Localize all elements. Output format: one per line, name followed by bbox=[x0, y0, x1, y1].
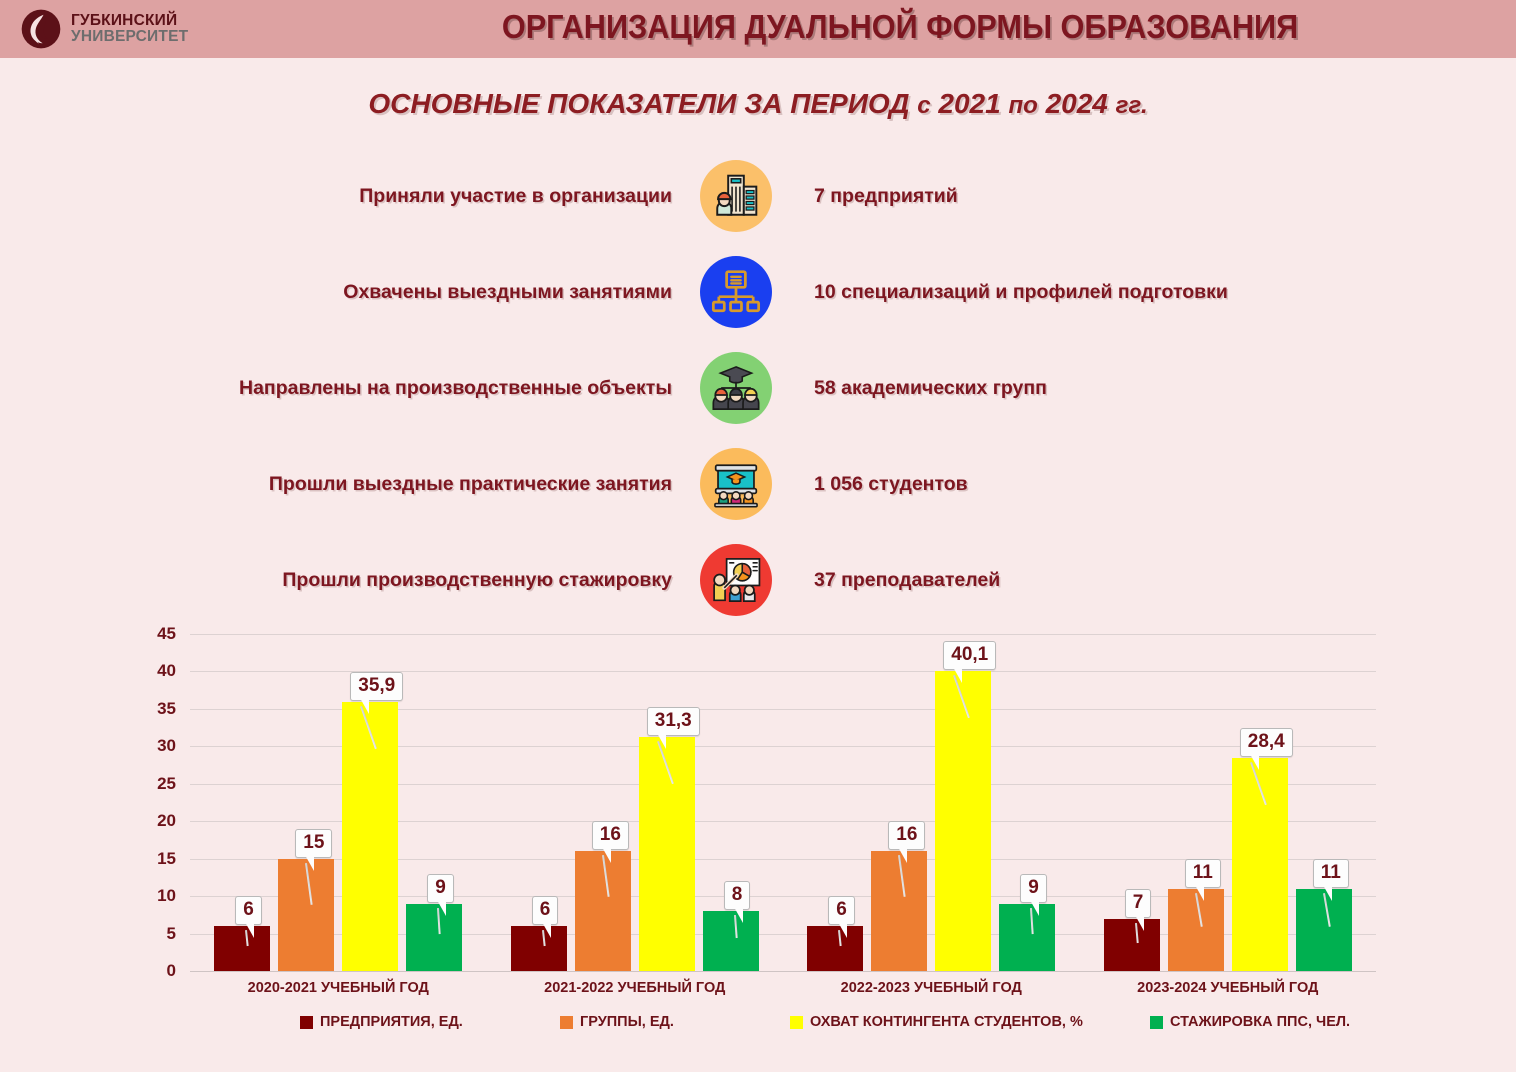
subtitle-prep-to: по bbox=[1008, 92, 1037, 119]
legend-item[interactable]: ГРУППЫ, ЕД. bbox=[560, 1014, 674, 1030]
subtitle: ОСНОВНЫЕ ПОКАЗАТЕЛИ ЗА ПЕРИОД с 2021 по … bbox=[0, 88, 1516, 120]
bar-chart: 051015202530354045 61535,9961631,3861640… bbox=[0, 612, 1516, 1072]
indicator-row: Охвачены выездными занятиями 10 специали… bbox=[0, 244, 1516, 340]
bar-value-callout: 40,1 bbox=[943, 641, 996, 670]
subtitle-prep-from: с bbox=[917, 92, 930, 119]
infographic-page: ГУБКИНСКИЙ УНИВЕРСИТЕТ ОРГАНИЗАЦИЯ ДУАЛЬ… bbox=[0, 0, 1516, 1072]
legend-item[interactable]: СТАЖИРОВКА ППС, ЧЕЛ. bbox=[1150, 1014, 1350, 1030]
x-axis-category-label: 2022-2023 УЧЕБНЫЙ ГОД bbox=[841, 980, 1022, 996]
legend-label: ГРУППЫ, ЕД. bbox=[580, 1014, 674, 1030]
callout-tail bbox=[245, 922, 254, 938]
indicator-value: 10 специализаций и профилей подготовки bbox=[772, 281, 1228, 304]
y-axis-labels: 051015202530354045 bbox=[130, 634, 176, 971]
y-axis-tick-label: 40 bbox=[130, 661, 176, 681]
bar-group: 61640,19 bbox=[783, 634, 1080, 971]
x-axis-category-label: 2021-2022 УЧЕБНЫЙ ГОД bbox=[544, 980, 725, 996]
y-axis-tick-label: 0 bbox=[130, 961, 176, 981]
org-chart-hierarchy-icon bbox=[700, 256, 772, 328]
indicator-value: 7 предприятий bbox=[772, 185, 958, 208]
indicator-label: Охвачены выездными занятиями bbox=[0, 281, 700, 304]
callout-tail bbox=[360, 698, 369, 714]
bar[interactable] bbox=[999, 904, 1055, 971]
bar-value-callout: 15 bbox=[295, 829, 332, 858]
bar[interactable] bbox=[575, 851, 631, 971]
callout-tail bbox=[542, 922, 551, 938]
y-axis-tick-label: 25 bbox=[130, 774, 176, 794]
bar[interactable] bbox=[1104, 919, 1160, 971]
callout-tail bbox=[1195, 885, 1204, 901]
bar-value-callout: 6 bbox=[235, 896, 262, 925]
callout-tail bbox=[1250, 754, 1259, 770]
legend-swatch-icon bbox=[560, 1016, 573, 1029]
x-axis-category-label: 2020-2021 УЧЕБНЫЙ ГОД bbox=[248, 980, 429, 996]
legend-swatch-icon bbox=[1150, 1016, 1163, 1029]
bar-group: 61631,38 bbox=[487, 634, 784, 971]
legend-swatch-icon bbox=[790, 1016, 803, 1029]
y-axis-tick-label: 5 bbox=[130, 924, 176, 944]
bar-value-callout: 16 bbox=[592, 821, 629, 850]
bar-value-callout: 35,9 bbox=[350, 672, 403, 701]
lecture-board-audience-icon bbox=[700, 448, 772, 520]
indicator-row: Прошли выездные практические занятия bbox=[0, 436, 1516, 532]
bar[interactable] bbox=[703, 911, 759, 971]
bar[interactable] bbox=[342, 702, 398, 971]
legend-item[interactable]: ПРЕДПРИЯТИЯ, ЕД. bbox=[300, 1014, 463, 1030]
bar-group: 61535,99 bbox=[190, 634, 487, 971]
y-axis-tick-label: 30 bbox=[130, 736, 176, 756]
callout-tail bbox=[734, 907, 743, 923]
indicator-label: Прошли производственную стажировку bbox=[0, 569, 700, 592]
callout-tail bbox=[657, 733, 666, 749]
subtitle-main: ОСНОВНЫЕ ПОКАЗАТЕЛИ ЗА ПЕРИОД bbox=[368, 88, 909, 119]
indicator-value: 1 056 студентов bbox=[772, 473, 968, 496]
y-axis-tick-label: 15 bbox=[130, 849, 176, 869]
bar-value-callout: 8 bbox=[724, 881, 751, 910]
subtitle-year-to: 2024 bbox=[1046, 88, 1108, 119]
indicator-label: Прошли выездные практические занятия bbox=[0, 473, 700, 496]
logo-primary-text: ГУБКИНСКИЙ bbox=[71, 13, 188, 29]
callout-tail bbox=[602, 847, 611, 863]
bar-value-callout: 7 bbox=[1125, 889, 1152, 918]
bar-value-callout: 31,3 bbox=[647, 707, 700, 736]
graduation-cap-students-icon bbox=[700, 352, 772, 424]
bar-value-callout: 11 bbox=[1185, 859, 1221, 888]
bar[interactable] bbox=[406, 904, 462, 971]
university-logo: ГУБКИНСКИЙ УНИВЕРСИТЕТ bbox=[20, 8, 188, 50]
y-axis-tick-label: 45 bbox=[130, 624, 176, 644]
y-axis-tick-label: 35 bbox=[130, 699, 176, 719]
legend-swatch-icon bbox=[300, 1016, 313, 1029]
callout-tail bbox=[953, 667, 962, 683]
page-title: ОРГАНИЗАЦИЯ ДУАЛЬНОЙ ФОРМЫ ОБРАЗОВАНИЯ bbox=[351, 8, 1448, 46]
bar-value-callout: 11 bbox=[1313, 859, 1349, 888]
callout-tail bbox=[898, 847, 907, 863]
callout-tail bbox=[305, 855, 314, 871]
callout-tail bbox=[1135, 915, 1144, 931]
bar-value-callout: 9 bbox=[1020, 874, 1047, 903]
callout-tail bbox=[1323, 885, 1332, 901]
bar[interactable] bbox=[511, 926, 567, 971]
subtitle-year-from: 2021 bbox=[938, 88, 1000, 119]
legend-label: ОХВАТ КОНТИНГЕНТА СТУДЕНТОВ, % bbox=[810, 1014, 1083, 1030]
gridline bbox=[190, 971, 1376, 972]
y-axis-tick-label: 20 bbox=[130, 811, 176, 831]
logo-secondary-text: УНИВЕРСИТЕТ bbox=[71, 29, 188, 45]
bar-value-callout: 28,4 bbox=[1240, 728, 1293, 757]
legend-label: СТАЖИРОВКА ППС, ЧЕЛ. bbox=[1170, 1014, 1350, 1030]
header-band: ГУБКИНСКИЙ УНИВЕРСИТЕТ ОРГАНИЗАЦИЯ ДУАЛЬ… bbox=[0, 0, 1516, 58]
legend-label: ПРЕДПРИЯТИЯ, ЕД. bbox=[320, 1014, 463, 1030]
subtitle-suffix: гг. bbox=[1116, 92, 1148, 119]
bar[interactable] bbox=[807, 926, 863, 971]
presenter-pie-chart-icon bbox=[700, 544, 772, 616]
indicator-label: Приняли участие в организации bbox=[0, 185, 700, 208]
indicator-value: 37 преподавателей bbox=[772, 569, 1000, 592]
legend-item[interactable]: ОХВАТ КОНТИНГЕНТА СТУДЕНТОВ, % bbox=[790, 1014, 1083, 1030]
bar[interactable] bbox=[214, 926, 270, 971]
bar[interactable] bbox=[935, 671, 991, 971]
bar-value-callout: 6 bbox=[828, 896, 855, 925]
bar-value-callout: 16 bbox=[888, 821, 925, 850]
indicator-row: Приняли участие в организации 7 предприя… bbox=[0, 148, 1516, 244]
callout-tail bbox=[1030, 900, 1039, 916]
callout-tail bbox=[838, 922, 847, 938]
indicator-row: Направлены на производственные объекты bbox=[0, 340, 1516, 436]
indicator-value: 58 академических групп bbox=[772, 377, 1047, 400]
plot-area: 61535,9961631,3861640,1971128,411 bbox=[190, 634, 1376, 971]
indicator-list: Приняли участие в организации 7 предприя… bbox=[0, 148, 1516, 628]
flame-swirl-logo-icon bbox=[20, 8, 62, 50]
indicator-label: Направлены на производственные объекты bbox=[0, 377, 700, 400]
factory-building-worker-icon bbox=[700, 160, 772, 232]
bar-group: 71128,411 bbox=[1080, 634, 1377, 971]
bar-value-callout: 6 bbox=[532, 896, 559, 925]
x-axis-category-label: 2023-2024 УЧЕБНЫЙ ГОД bbox=[1137, 980, 1318, 996]
x-axis-labels: 2020-2021 УЧЕБНЫЙ ГОД2021-2022 УЧЕБНЫЙ Г… bbox=[190, 980, 1376, 1006]
callout-tail bbox=[437, 900, 446, 916]
y-axis-tick-label: 10 bbox=[130, 886, 176, 906]
bar-value-callout: 9 bbox=[427, 874, 454, 903]
